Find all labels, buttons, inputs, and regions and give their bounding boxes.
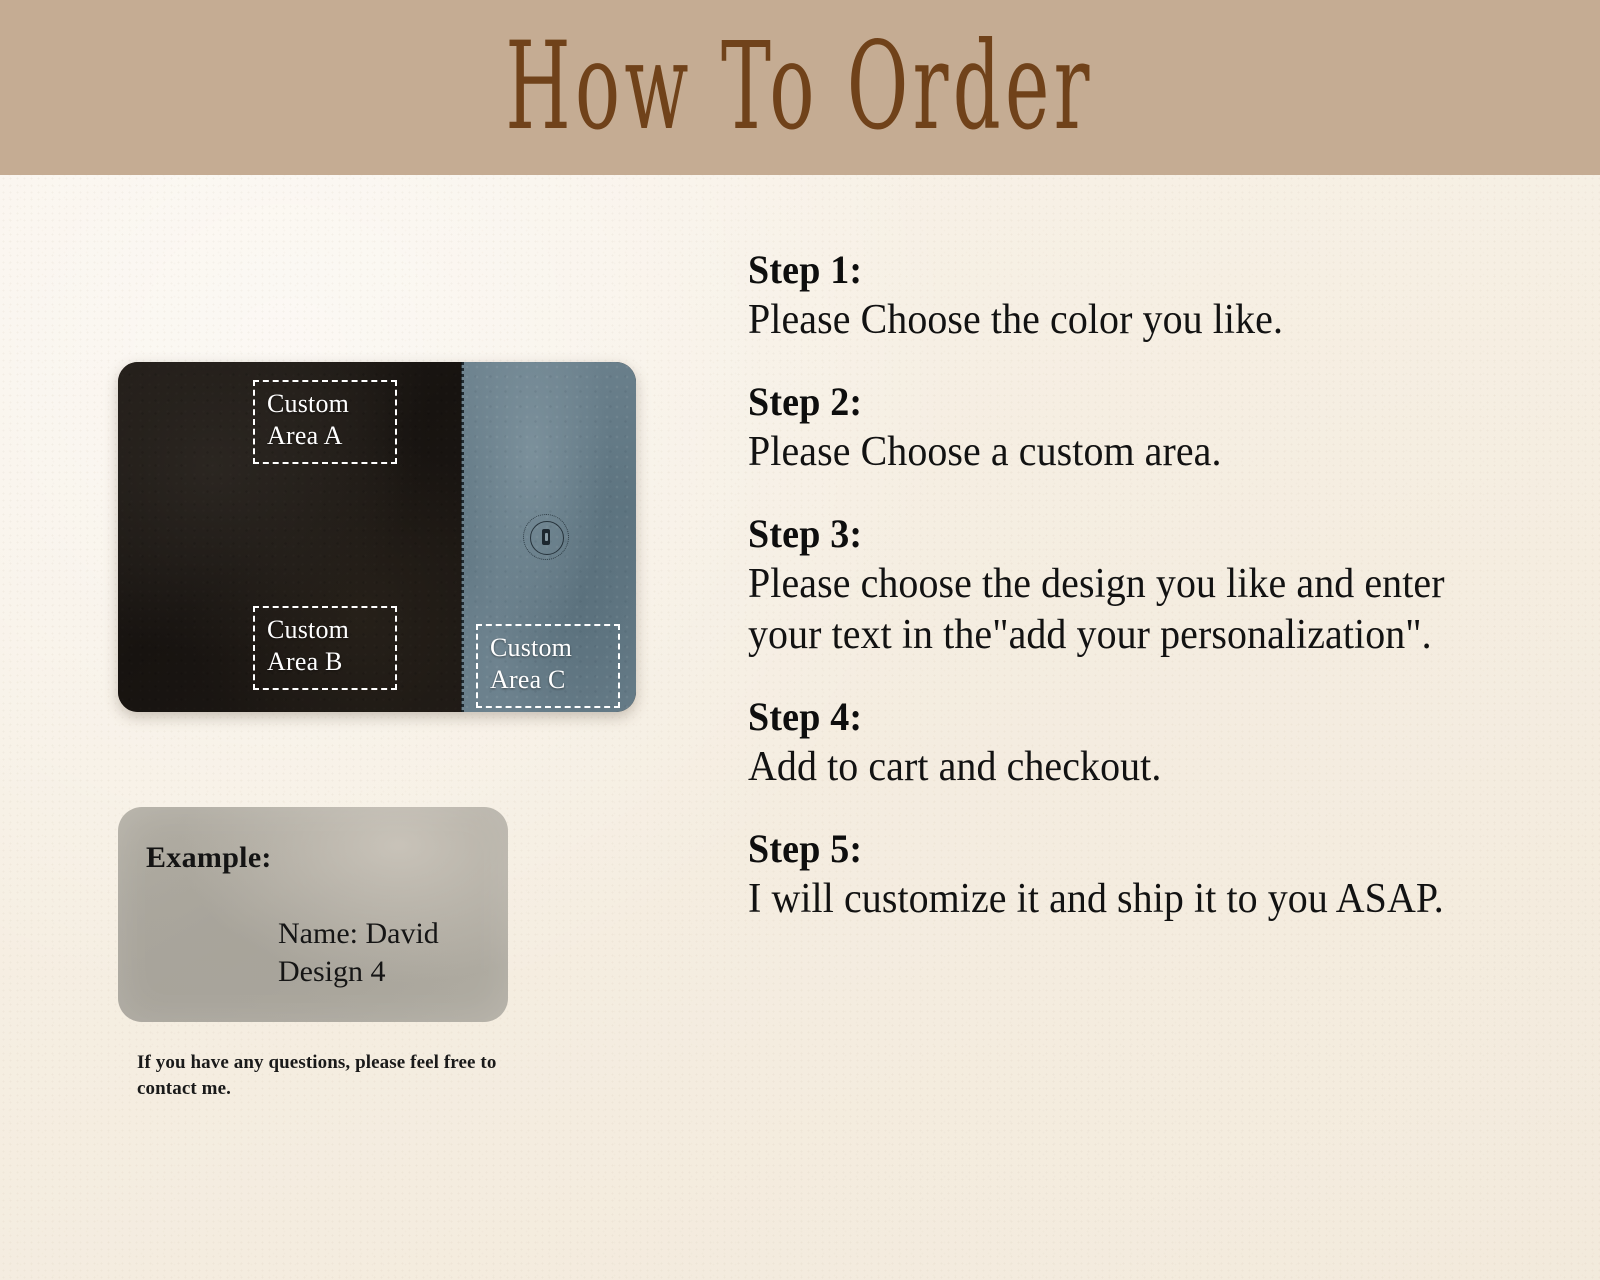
custom-area-b-line2: Area B — [267, 646, 385, 678]
custom-area-a-line2: Area A — [267, 420, 385, 452]
product-mat-image: Custom Area A Custom Area B Custom Area … — [118, 362, 636, 712]
step-item-1: Step 1: Please Choose the color you like… — [748, 248, 1538, 346]
contact-note: If you have any questions, please feel f… — [137, 1050, 507, 1101]
step-1-title: Step 1: — [748, 248, 1499, 293]
example-values: Name: David Design 4 — [278, 915, 439, 992]
step-3-body: Please choose the design you like and en… — [748, 559, 1499, 661]
emblem-core-mark — [542, 529, 550, 545]
custom-area-c-line2: Area C — [490, 664, 608, 696]
header-band: How To Order — [0, 0, 1600, 175]
step-item-3: Step 3: Please choose the design you lik… — [748, 512, 1538, 661]
step-4-title: Step 4: — [748, 695, 1499, 740]
example-card: Example: Name: David Design 4 — [118, 807, 508, 1022]
step-item-5: Step 5: I will customize it and ship it … — [748, 827, 1538, 925]
step-item-2: Step 2: Please Choose a custom area. — [748, 380, 1538, 478]
how-to-order-page: How To Order Custom Area A Custom Area B — [0, 0, 1600, 1280]
step-item-4: Step 4: Add to cart and checkout. — [748, 695, 1538, 793]
step-1-body: Please Choose the color you like. — [748, 295, 1499, 346]
steps-list: Step 1: Please Choose the color you like… — [748, 248, 1538, 925]
custom-area-a-line1: Custom — [267, 388, 385, 420]
step-3-title: Step 3: — [748, 512, 1499, 557]
example-label: Example: — [146, 841, 272, 875]
page-title: How To Order — [506, 25, 1094, 146]
mat-stitched-divider — [461, 362, 464, 712]
example-name-line: Name: David — [278, 915, 439, 953]
custom-area-c-box[interactable]: Custom Area C — [476, 624, 620, 708]
step-4-body: Add to cart and checkout. — [748, 742, 1499, 793]
left-column: Custom Area A Custom Area B Custom Area … — [0, 175, 700, 1280]
example-design-line: Design 4 — [278, 953, 439, 991]
step-2-title: Step 2: — [748, 380, 1499, 425]
step-5-body: I will customize it and ship it to you A… — [748, 874, 1499, 925]
custom-area-c-line1: Custom — [490, 632, 608, 664]
step-2-body: Please Choose a custom area. — [748, 427, 1499, 478]
step-5-title: Step 5: — [748, 827, 1499, 872]
brand-emblem-icon — [523, 514, 569, 560]
custom-area-b-line1: Custom — [267, 614, 385, 646]
custom-area-a-box[interactable]: Custom Area A — [253, 380, 397, 464]
custom-area-b-box[interactable]: Custom Area B — [253, 606, 397, 690]
